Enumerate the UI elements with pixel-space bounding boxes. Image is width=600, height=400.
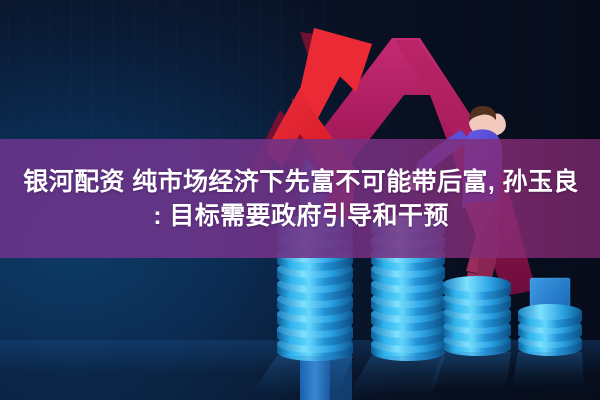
coin-stack-4: [518, 304, 582, 356]
ground-reflections: [250, 352, 584, 396]
banner-image: 银河配资 纯市场经济下先富不可能带后富, 孙玉良 : 目标需要政府引导和干预: [0, 0, 600, 400]
headline-line-1: 银河配资 纯市场经济下先富不可能带后富, 孙玉良: [21, 165, 578, 199]
headline-band: 银河配资 纯市场经济下先富不可能带后富, 孙玉良 : 目标需要政府引导和干预: [0, 139, 600, 258]
coin-stack-3: [443, 276, 511, 356]
headline-line-2: : 目标需要政府引导和干预: [151, 199, 448, 233]
